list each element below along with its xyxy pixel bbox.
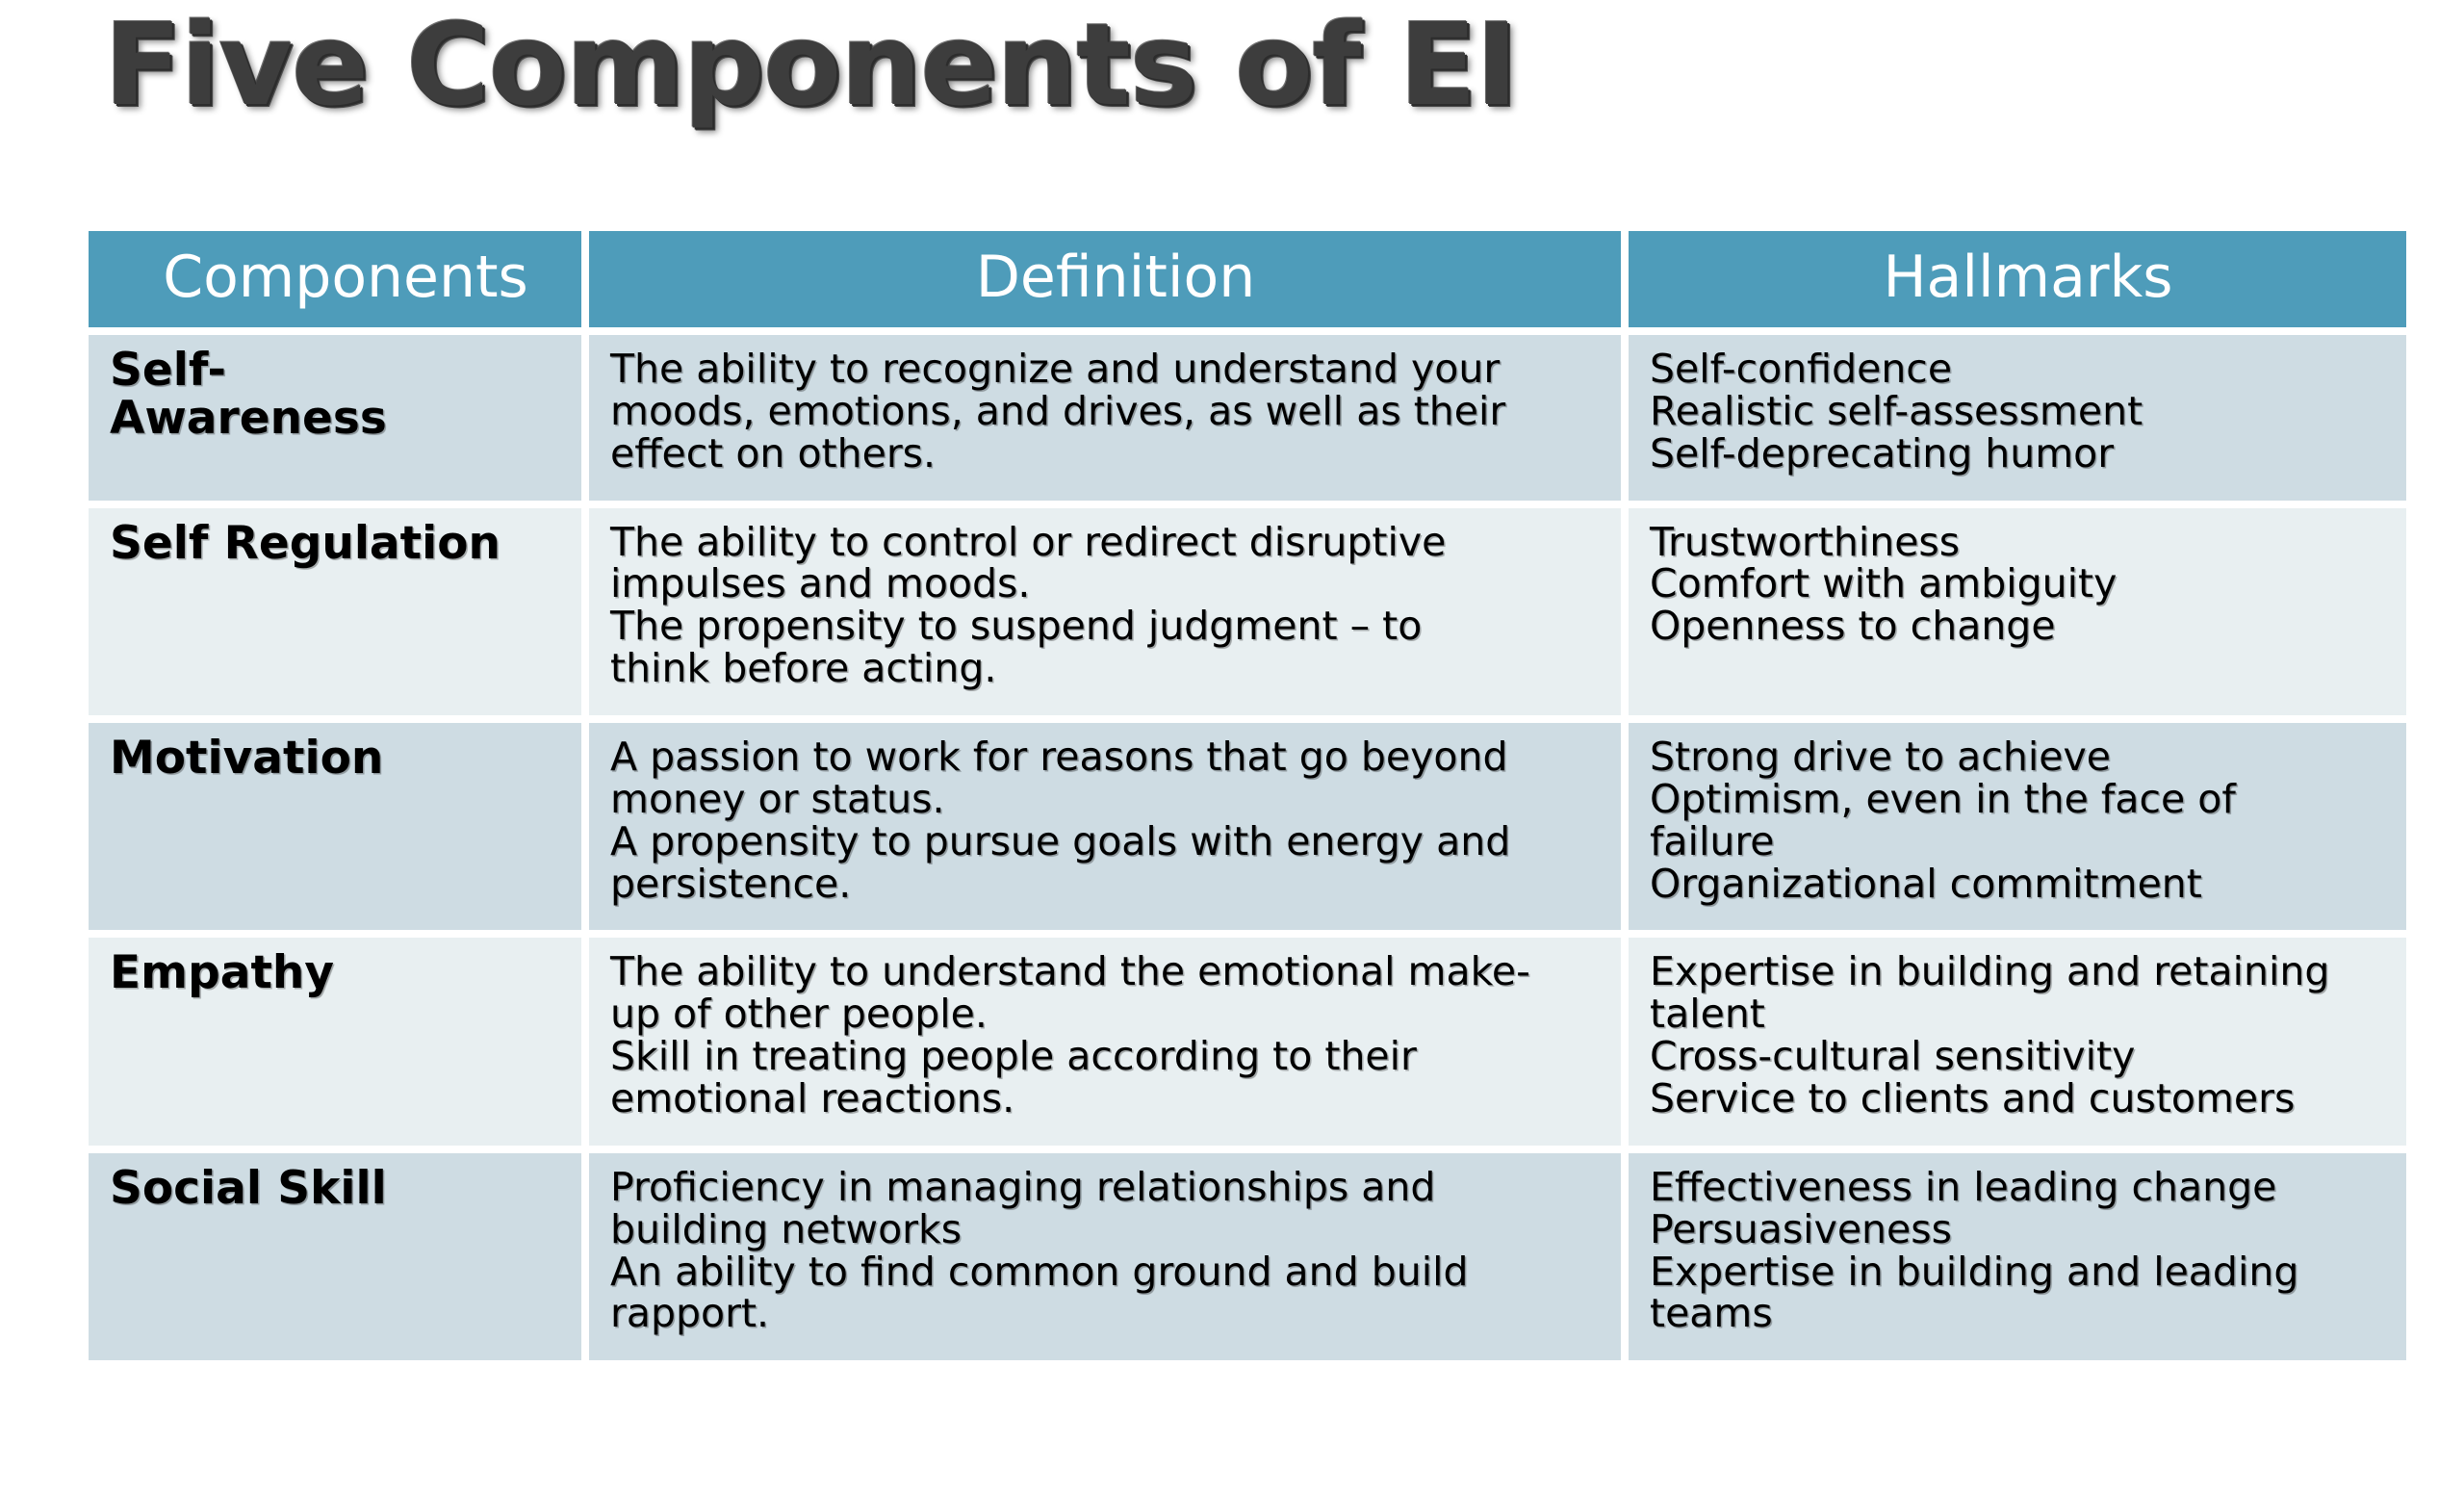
column-header-definition: Definition [589, 231, 1621, 327]
hallmarks-4-cell: Effectiveness in leading changePersuasiv… [1629, 1153, 2406, 1360]
hallmarks-1-text: TrustworthinessComfort with ambiguityOpe… [1629, 508, 2406, 674]
column-divider-1 [581, 723, 589, 930]
definition-3-text: The ability to understand the emotional … [589, 938, 1621, 1145]
column-header-components-label: Components [89, 231, 581, 306]
row-divider [89, 715, 2406, 723]
text-line: Realistic self-assessment [1650, 391, 2383, 433]
hallmarks-0-cell: Self-confidenceRealistic self-assessment… [1629, 335, 2406, 501]
component-1-text: Self Regulation [89, 508, 581, 593]
text-line: building networks [610, 1209, 1598, 1251]
text-line: effect on others. [610, 433, 1598, 476]
table-row: Self-AwarenessThe ability to recognize a… [89, 335, 2406, 501]
text-line: talent [1650, 993, 2383, 1036]
text-line: failure [1650, 821, 2383, 863]
column-divider-2 [1621, 723, 1629, 930]
row-divider [89, 1146, 2406, 1153]
text-line: emotional reactions. [610, 1078, 1598, 1121]
text-line: Persuasiveness [1650, 1209, 2383, 1251]
row-divider [89, 501, 2406, 508]
hallmarks-2-text: Strong drive to achieveOptimism, even in… [1629, 723, 2406, 930]
text-line: Self Regulation [110, 520, 568, 568]
column-header-components: Components [89, 231, 581, 327]
text-line: Empathy [110, 949, 568, 997]
text-line: teams [1650, 1293, 2383, 1335]
definition-2-text: A passion to work for reasons that go be… [589, 723, 1621, 930]
text-line: money or status. [610, 779, 1598, 821]
row-divider [89, 327, 2406, 335]
column-divider-1 [581, 1153, 589, 1360]
hallmarks-2-cell: Strong drive to achieveOptimism, even in… [1629, 723, 2406, 930]
text-line: Trustworthiness [1650, 522, 2383, 564]
text-line: Awareness [110, 395, 568, 443]
hallmarks-0-text: Self-confidenceRealistic self-assessment… [1629, 335, 2406, 501]
column-header-hallmarks-label: Hallmarks [1629, 231, 2406, 306]
hallmarks-4-text: Effectiveness in leading changePersuasiv… [1629, 1153, 2406, 1360]
component-2-cell: Motivation [89, 723, 581, 930]
hallmarks-3-text: Expertise in building and retainingtalen… [1629, 938, 2406, 1145]
text-line: Social Skill [110, 1165, 568, 1213]
component-1-cell: Self Regulation [89, 508, 581, 715]
text-line: Proficiency in managing relationships an… [610, 1167, 1598, 1209]
text-line: persistence. [610, 863, 1598, 906]
component-2-text: Motivation [89, 723, 581, 808]
component-0-text: Self-Awareness [89, 335, 581, 468]
definition-0-cell: The ability to recognize and understand … [589, 335, 1621, 501]
row-divider-fill [89, 327, 2406, 335]
text-line: Service to clients and customers [1650, 1078, 2383, 1121]
text-line: Motivation [110, 735, 568, 783]
text-line: Optimism, even in the face of [1650, 779, 2383, 821]
definition-4-cell: Proficiency in managing relationships an… [589, 1153, 1621, 1360]
text-line: Self-deprecating humor [1650, 433, 2383, 476]
table-row: Social SkillProficiency in managing rela… [89, 1153, 2406, 1360]
ei-components-table: Components Definition Hallmarks Self-Awa… [89, 231, 2406, 1360]
definition-0-text: The ability to recognize and understand … [589, 335, 1621, 501]
column-header-definition-label: Definition [589, 231, 1621, 306]
definition-1-text: The ability to control or redirect disru… [589, 508, 1621, 715]
text-line: A passion to work for reasons that go be… [610, 736, 1598, 779]
row-divider-fill [89, 501, 2406, 508]
text-line: A propensity to pursue goals with energy… [610, 821, 1598, 863]
text-line: think before acting. [610, 648, 1598, 690]
table-row: MotivationA passion to work for reasons … [89, 723, 2406, 930]
text-line: Expertise in building and retaining [1650, 951, 2383, 993]
row-divider-fill [89, 930, 2406, 938]
text-line: Expertise in building and leading [1650, 1251, 2383, 1294]
text-line: An ability to find common ground and bui… [610, 1251, 1598, 1294]
text-line: Effectiveness in leading change [1650, 1167, 2383, 1209]
text-line: Strong drive to achieve [1650, 736, 2383, 779]
text-line: The ability to control or redirect disru… [610, 522, 1598, 564]
slide-canvas: Five Components of EI Components Definit… [0, 0, 2464, 1495]
definition-4-text: Proficiency in managing relationships an… [589, 1153, 1621, 1360]
page-title: Five Components of EI [104, 8, 1517, 121]
text-line: up of other people. [610, 993, 1598, 1036]
column-divider-2 [1621, 335, 1629, 501]
component-3-cell: Empathy [89, 938, 581, 1145]
column-divider-2 [1621, 938, 1629, 1145]
table-row: EmpathyThe ability to understand the emo… [89, 938, 2406, 1145]
table-header: Components Definition Hallmarks [89, 231, 2406, 327]
row-divider-fill [89, 715, 2406, 723]
text-line: rapport. [610, 1293, 1598, 1335]
column-divider-1 [581, 508, 589, 715]
text-line: The ability to recognize and understand … [610, 348, 1598, 391]
row-divider-fill [89, 1146, 2406, 1153]
component-3-text: Empathy [89, 938, 581, 1022]
component-4-text: Social Skill [89, 1153, 581, 1238]
text-line: Organizational commitment [1650, 863, 2383, 906]
column-divider-1 [581, 938, 589, 1145]
text-line: The propensity to suspend judgment – to [610, 606, 1598, 648]
hallmarks-3-cell: Expertise in building and retainingtalen… [1629, 938, 2406, 1145]
text-line: Cross-cultural sensitivity [1650, 1036, 2383, 1078]
row-divider [89, 930, 2406, 938]
column-divider-2 [1621, 508, 1629, 715]
text-line: Skill in treating people according to th… [610, 1036, 1598, 1078]
text-line: Self- [110, 347, 568, 395]
table-body: Self-AwarenessThe ability to recognize a… [89, 327, 2406, 1360]
definition-1-cell: The ability to control or redirect disru… [589, 508, 1621, 715]
text-line: Openness to change [1650, 606, 2383, 648]
column-divider-2 [1621, 1153, 1629, 1360]
column-header-hallmarks: Hallmarks [1629, 231, 2406, 327]
component-4-cell: Social Skill [89, 1153, 581, 1360]
header-gap-2 [1621, 231, 1629, 327]
text-line: Comfort with ambiguity [1650, 563, 2383, 606]
definition-3-cell: The ability to understand the emotional … [589, 938, 1621, 1145]
text-line: The ability to understand the emotional … [610, 951, 1598, 993]
hallmarks-1-cell: TrustworthinessComfort with ambiguityOpe… [1629, 508, 2406, 715]
table-header-row: Components Definition Hallmarks [89, 231, 2406, 327]
definition-2-cell: A passion to work for reasons that go be… [589, 723, 1621, 930]
column-divider-1 [581, 335, 589, 501]
text-line: Self-confidence [1650, 348, 2383, 391]
header-gap-1 [581, 231, 589, 327]
component-0-cell: Self-Awareness [89, 335, 581, 501]
table-row: Self RegulationThe ability to control or… [89, 508, 2406, 715]
text-line: impulses and moods. [610, 563, 1598, 606]
text-line: moods, emotions, and drives, as well as … [610, 391, 1598, 433]
